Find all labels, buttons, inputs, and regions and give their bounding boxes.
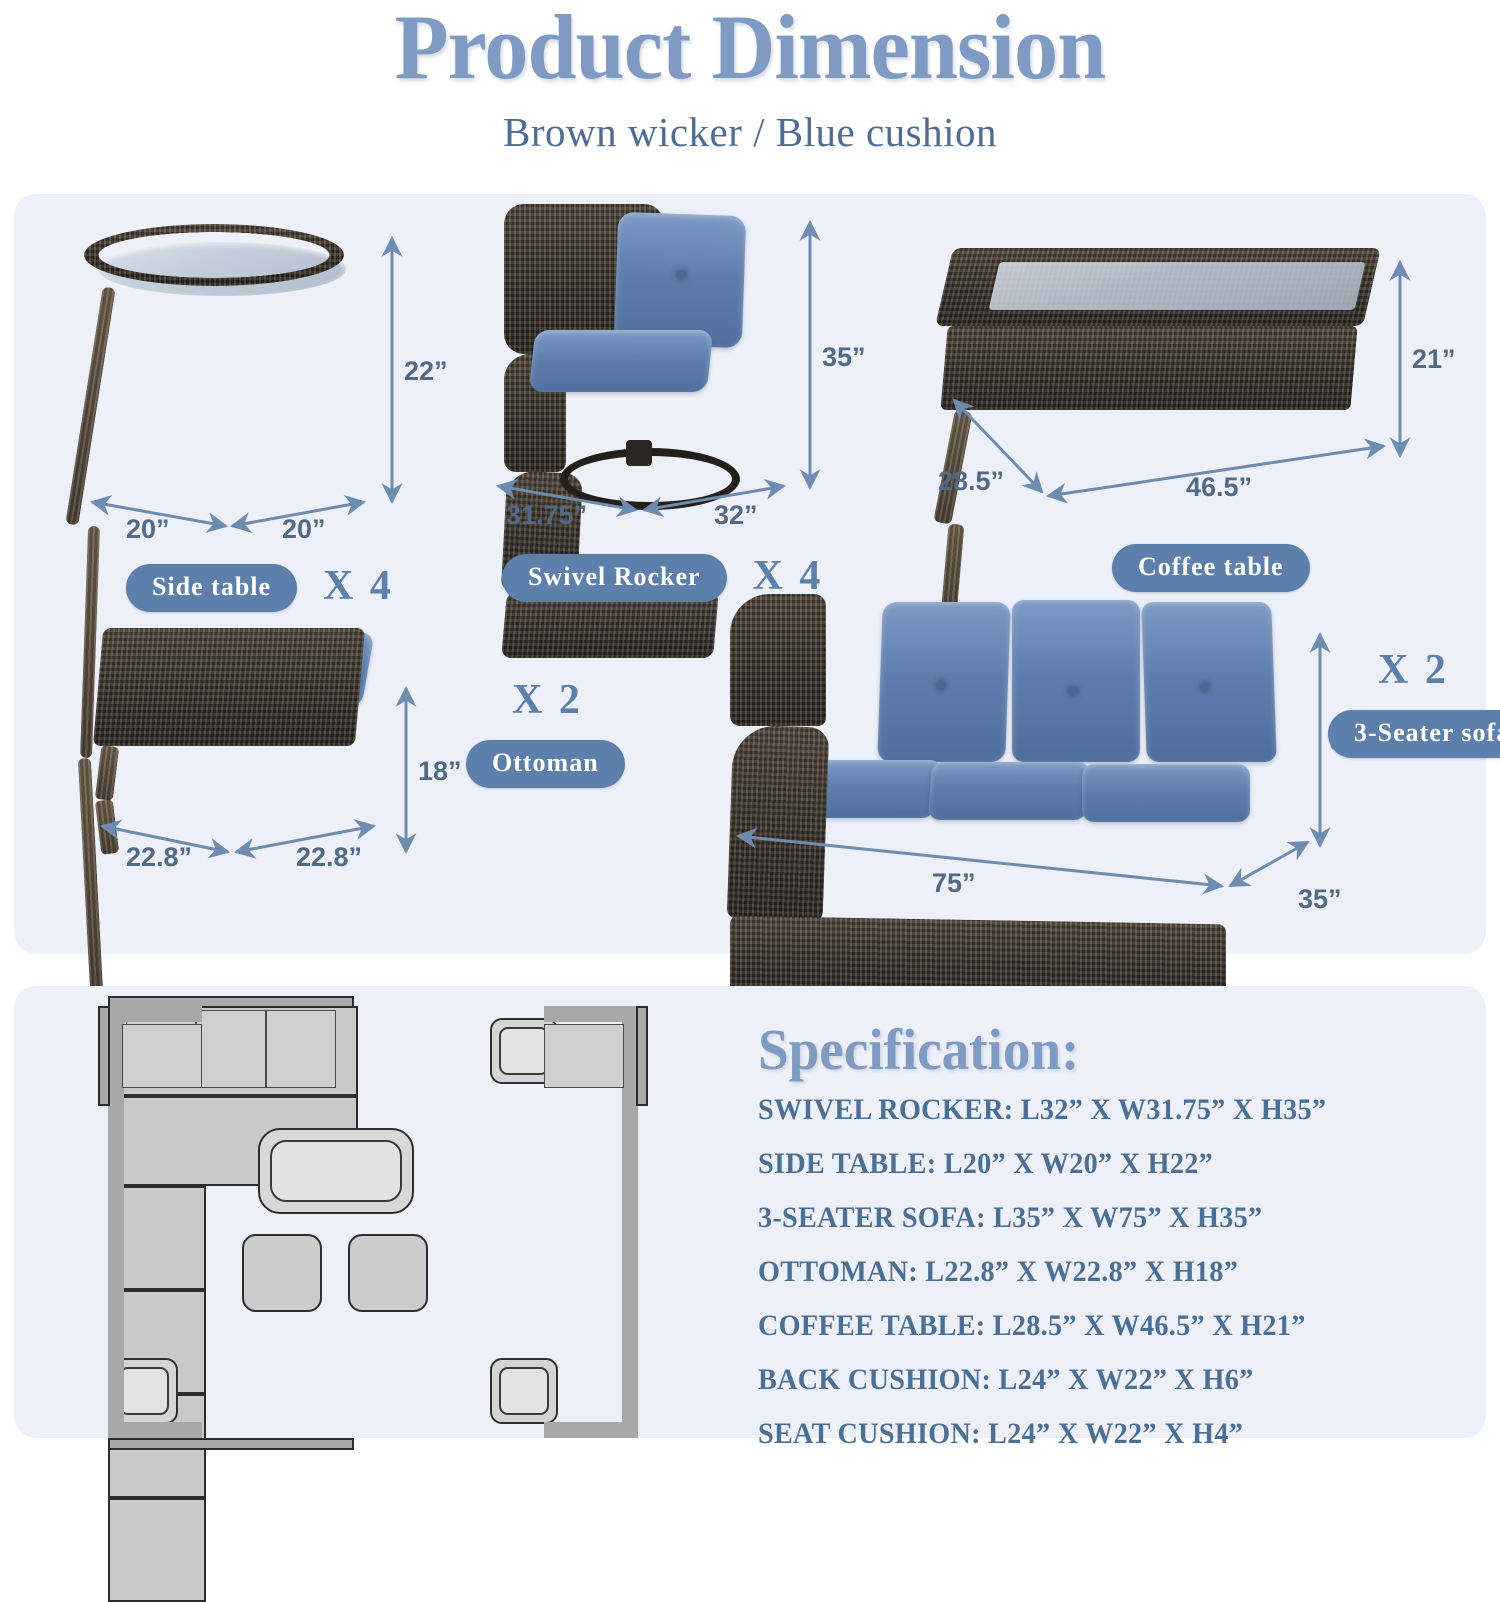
spec-line-back-cushion: BACK CUSHION: L24” X W22” X H6” bbox=[758, 1363, 1435, 1397]
three-seater-sofa-multiplier: X 2 bbox=[1378, 646, 1449, 694]
layout-ottoman bbox=[348, 1234, 428, 1312]
specification-title: Specification: bbox=[758, 1016, 1442, 1083]
ottoman-multiplier: X 2 bbox=[512, 676, 583, 724]
swivel-rocker-depth-dim: 31.75” bbox=[506, 500, 587, 531]
three-seater-sofa-dimension-arrows bbox=[714, 584, 1484, 934]
spec-line-swivel-rocker: SWIVEL ROCKER: L32” X W31.75” X H35” bbox=[758, 1093, 1435, 1127]
three-seater-sofa-label: 3-Seater sofa bbox=[1328, 710, 1500, 758]
ottoman-depth-dim: 22.8” bbox=[126, 842, 192, 873]
side-table-height-dim: 22” bbox=[404, 356, 448, 387]
side-table-width-dim: 20” bbox=[282, 514, 326, 545]
dimensions-panel: 22” 20” 20” Side table X 4 bbox=[14, 194, 1486, 954]
side-table-label: Side table bbox=[126, 564, 297, 612]
swivel-rocker-label: Swivel Rocker bbox=[502, 554, 727, 602]
side-table-multiplier: X 4 bbox=[323, 563, 394, 609]
layout-diagram bbox=[108, 1006, 638, 1438]
coffee-table-depth-dim: 28.5” bbox=[938, 466, 1004, 497]
product-swivel-rocker: 35” 31.75” 32” Swivel Rocker X 4 bbox=[484, 204, 874, 614]
three-seater-sofa-depth-dim: 35” bbox=[1298, 884, 1342, 915]
ottoman-width-dim: 22.8” bbox=[296, 842, 362, 873]
page-title: Product Dimension bbox=[30, 2, 1470, 92]
product-side-table: 22” 20” 20” Side table X 4 bbox=[74, 214, 454, 614]
product-ottoman: 18” 22.8” 22.8” X 2 Ottoman bbox=[84, 614, 644, 934]
page-header: Product Dimension Brown wicker / Blue cu… bbox=[0, 0, 1500, 156]
swivel-rocker-height-dim: 35” bbox=[822, 342, 866, 373]
layout-swivel-rocker bbox=[108, 1498, 206, 1602]
product-coffee-table: 21” 28.5” 46.5” Coffee table bbox=[914, 234, 1454, 614]
side-table-depth-dim: 20” bbox=[126, 514, 170, 545]
spec-line-three-seater-sofa: 3-SEATER SOFA: L35” X W75” X H35” bbox=[758, 1201, 1435, 1235]
spec-line-side-table: SIDE TABLE: L20” X W20” X H22” bbox=[758, 1147, 1435, 1181]
ottoman-label: Ottoman bbox=[466, 740, 625, 788]
product-dimension-infographic: Product Dimension Brown wicker / Blue cu… bbox=[0, 0, 1500, 1449]
spec-line-ottoman: OTTOMAN: L22.8” X W22.8” X H18” bbox=[758, 1255, 1435, 1289]
spec-line-coffee-table: COFFEE TABLE: L28.5” X W46.5” X H21” bbox=[758, 1309, 1435, 1343]
specification-block: Specification: SWIVEL ROCKER: L32” X W31… bbox=[758, 1016, 1478, 1471]
coffee-table-width-dim: 46.5” bbox=[1186, 472, 1252, 503]
ottoman-height-dim: 18” bbox=[418, 756, 462, 787]
coffee-table-height-dim: 21” bbox=[1412, 344, 1456, 375]
layout-ottoman bbox=[242, 1234, 322, 1312]
three-seater-sofa-width-dim: 75” bbox=[932, 868, 976, 899]
swivel-rocker-width-dim: 32” bbox=[714, 500, 758, 531]
layout-coffee-table bbox=[258, 1128, 414, 1214]
page-subtitle: Brown wicker / Blue cushion bbox=[0, 108, 1500, 156]
layout-side-table bbox=[490, 1358, 558, 1424]
side-table-dimension-arrows bbox=[74, 214, 454, 614]
product-three-seater-sofa: 35” 75” 35” X 2 3-Seater sofa bbox=[714, 584, 1484, 934]
spec-line-seat-cushion: SEAT CUSHION: L24” X W22” X H4” bbox=[758, 1417, 1435, 1451]
